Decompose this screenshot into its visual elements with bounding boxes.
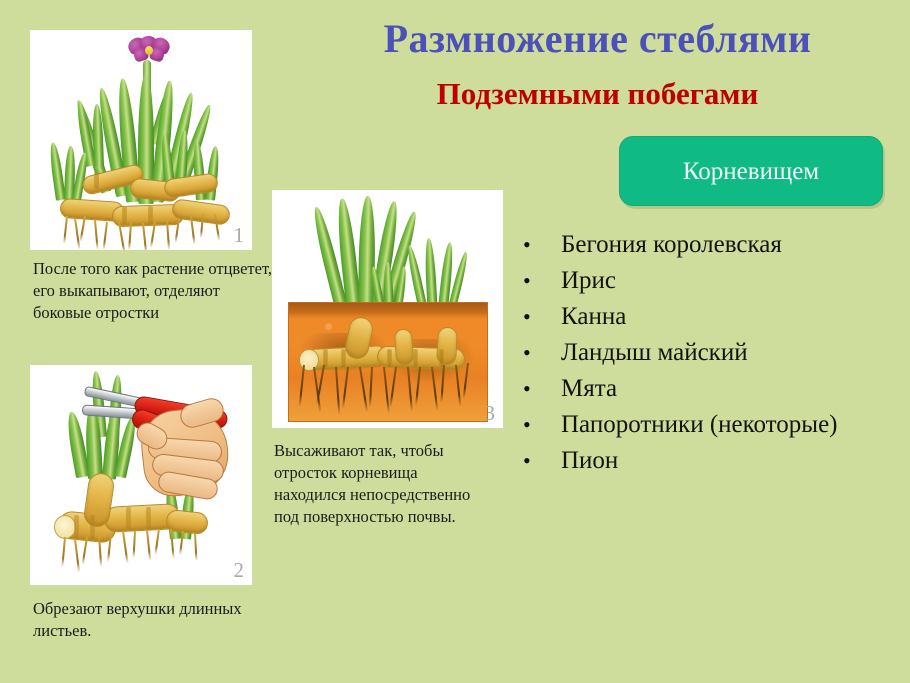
bullet-icon: • xyxy=(515,306,561,328)
list-item-label: Ирис xyxy=(561,268,616,293)
list-item-label: Канна xyxy=(561,304,626,329)
figure-number: 3 xyxy=(485,401,496,426)
list-item: • Ирис xyxy=(515,268,910,304)
list-item: • Бегония королевская xyxy=(515,232,910,268)
bullet-icon: • xyxy=(515,270,561,292)
figure-caption-1: После того как растение отцветет, его вы… xyxy=(33,258,281,324)
figure-iris-plant: 1 xyxy=(30,30,252,250)
list-item-label: Пион xyxy=(561,448,618,473)
list-item: • Ландыш майский xyxy=(515,340,910,376)
soil-cross-section-illustration xyxy=(272,190,503,428)
figure-caption-2: Обрезают верхушки длинных листьев. xyxy=(33,598,263,642)
bullet-icon: • xyxy=(515,450,561,472)
page-title: Размножение стеблями xyxy=(285,18,910,60)
list-item-label: Мята xyxy=(561,376,617,401)
figure-planted-rhizome: 3 xyxy=(272,190,503,428)
iris-plant-illustration xyxy=(30,30,252,250)
soil-block xyxy=(288,302,488,422)
list-item-label: Ландыш майский xyxy=(561,340,748,365)
page-subtitle: Подземными побегами xyxy=(285,78,910,111)
bullet-icon: • xyxy=(515,234,561,256)
list-item: • Канна xyxy=(515,304,910,340)
list-item: • Папоротники (некоторые) xyxy=(515,412,910,448)
plant-list: • Бегония королевская • Ирис • Канна • Л… xyxy=(515,232,910,484)
bullet-icon: • xyxy=(515,378,561,400)
figure-trimming-leaves: 2 xyxy=(30,365,252,585)
bullet-icon: • xyxy=(515,342,561,364)
list-item: • Мята xyxy=(515,376,910,412)
badge-label: Корневищем xyxy=(683,159,819,184)
bullet-icon: • xyxy=(515,414,561,436)
figure-caption-3: Высаживают так, чтобы отросток корневища… xyxy=(274,440,489,528)
soil-surface xyxy=(289,303,487,319)
status-badge-rhizome: Корневищем xyxy=(619,136,883,206)
figure-number: 2 xyxy=(234,558,245,583)
list-item-label: Бегония королевская xyxy=(561,232,782,257)
figure-number: 1 xyxy=(234,223,245,248)
rhizome-cut-surface xyxy=(54,515,76,539)
list-item-label: Папоротники (некоторые) xyxy=(561,412,838,437)
hand-with-secateurs-illustration xyxy=(30,365,252,585)
slide-canvas: Размножение стеблями Подземными побегами… xyxy=(0,0,910,683)
list-item: • Пион xyxy=(515,448,910,484)
